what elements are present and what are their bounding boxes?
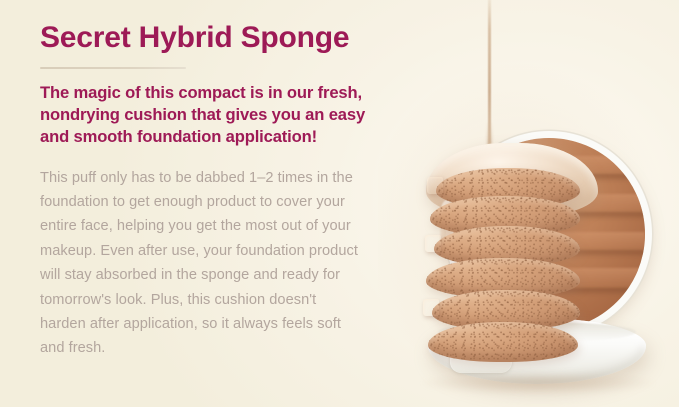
title-divider xyxy=(40,67,186,69)
compact-drop-shadow xyxy=(422,372,654,394)
stacked-sponge-discs xyxy=(386,150,576,362)
page-title: Secret Hybrid Sponge xyxy=(40,22,390,54)
product-feature-banner: Secret Hybrid Sponge The magic of this c… xyxy=(0,0,679,407)
sponge-tab xyxy=(427,177,443,194)
sponge-pores xyxy=(428,322,578,362)
product-photo xyxy=(378,0,679,407)
lede-paragraph: The magic of this compact is in our fres… xyxy=(40,82,370,149)
body-paragraph: This puff only has to be dabbed 1–2 time… xyxy=(40,166,362,361)
sponge-tab xyxy=(425,235,441,252)
sponge-disc xyxy=(428,322,578,362)
text-column: Secret Hybrid Sponge The magic of this c… xyxy=(40,22,390,361)
sponge-tab xyxy=(423,299,439,316)
